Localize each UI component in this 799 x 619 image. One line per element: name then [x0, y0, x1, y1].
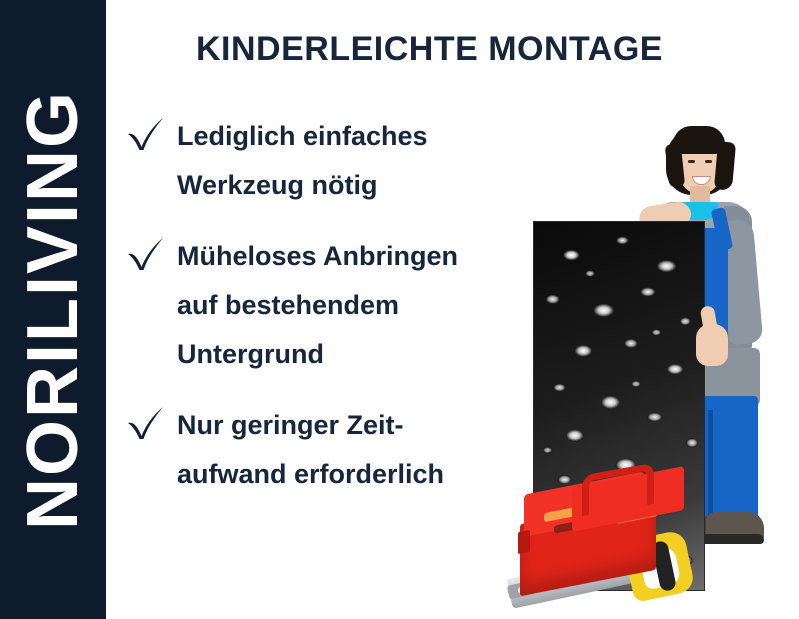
brand-name: NORILIVING	[17, 89, 89, 529]
worker-hand-thumbs-up	[696, 324, 728, 366]
worker-shoe-right-sole	[706, 534, 764, 544]
worker-hair-side-right	[714, 141, 736, 190]
list-item: Müheloses Anbringen auf bestehendem Unte…	[126, 232, 526, 379]
check-icon	[126, 405, 166, 441]
list-item: Lediglich einfaches Werkzeug nötig	[126, 112, 526, 210]
poster-canvas: NORILIVING KINDERLEICHTE MONTAGE Ledigli…	[0, 0, 799, 619]
brand-bar: NORILIVING	[0, 0, 106, 619]
list-item-text: Nur geringer Zeit- aufwand erforderlich	[177, 401, 526, 499]
page-title: KINDERLEICHTE MONTAGE	[196, 30, 663, 69]
list-item-text: Müheloses Anbringen auf bestehendem Unte…	[177, 232, 526, 379]
product-photo	[500, 110, 799, 619]
toolbox-clasp	[518, 530, 530, 554]
list-item: Nur geringer Zeit- aufwand erforderlich	[126, 401, 526, 499]
list-item-text: Lediglich einfaches Werkzeug nötig	[177, 112, 526, 210]
worker-eye-right	[705, 160, 712, 163]
check-icon	[126, 236, 166, 272]
toolbox	[516, 465, 686, 605]
worker-eye-left	[688, 160, 695, 163]
benefits-list: Lediglich einfaches Werkzeug nötig Mühel…	[126, 112, 526, 521]
check-icon	[126, 116, 166, 152]
